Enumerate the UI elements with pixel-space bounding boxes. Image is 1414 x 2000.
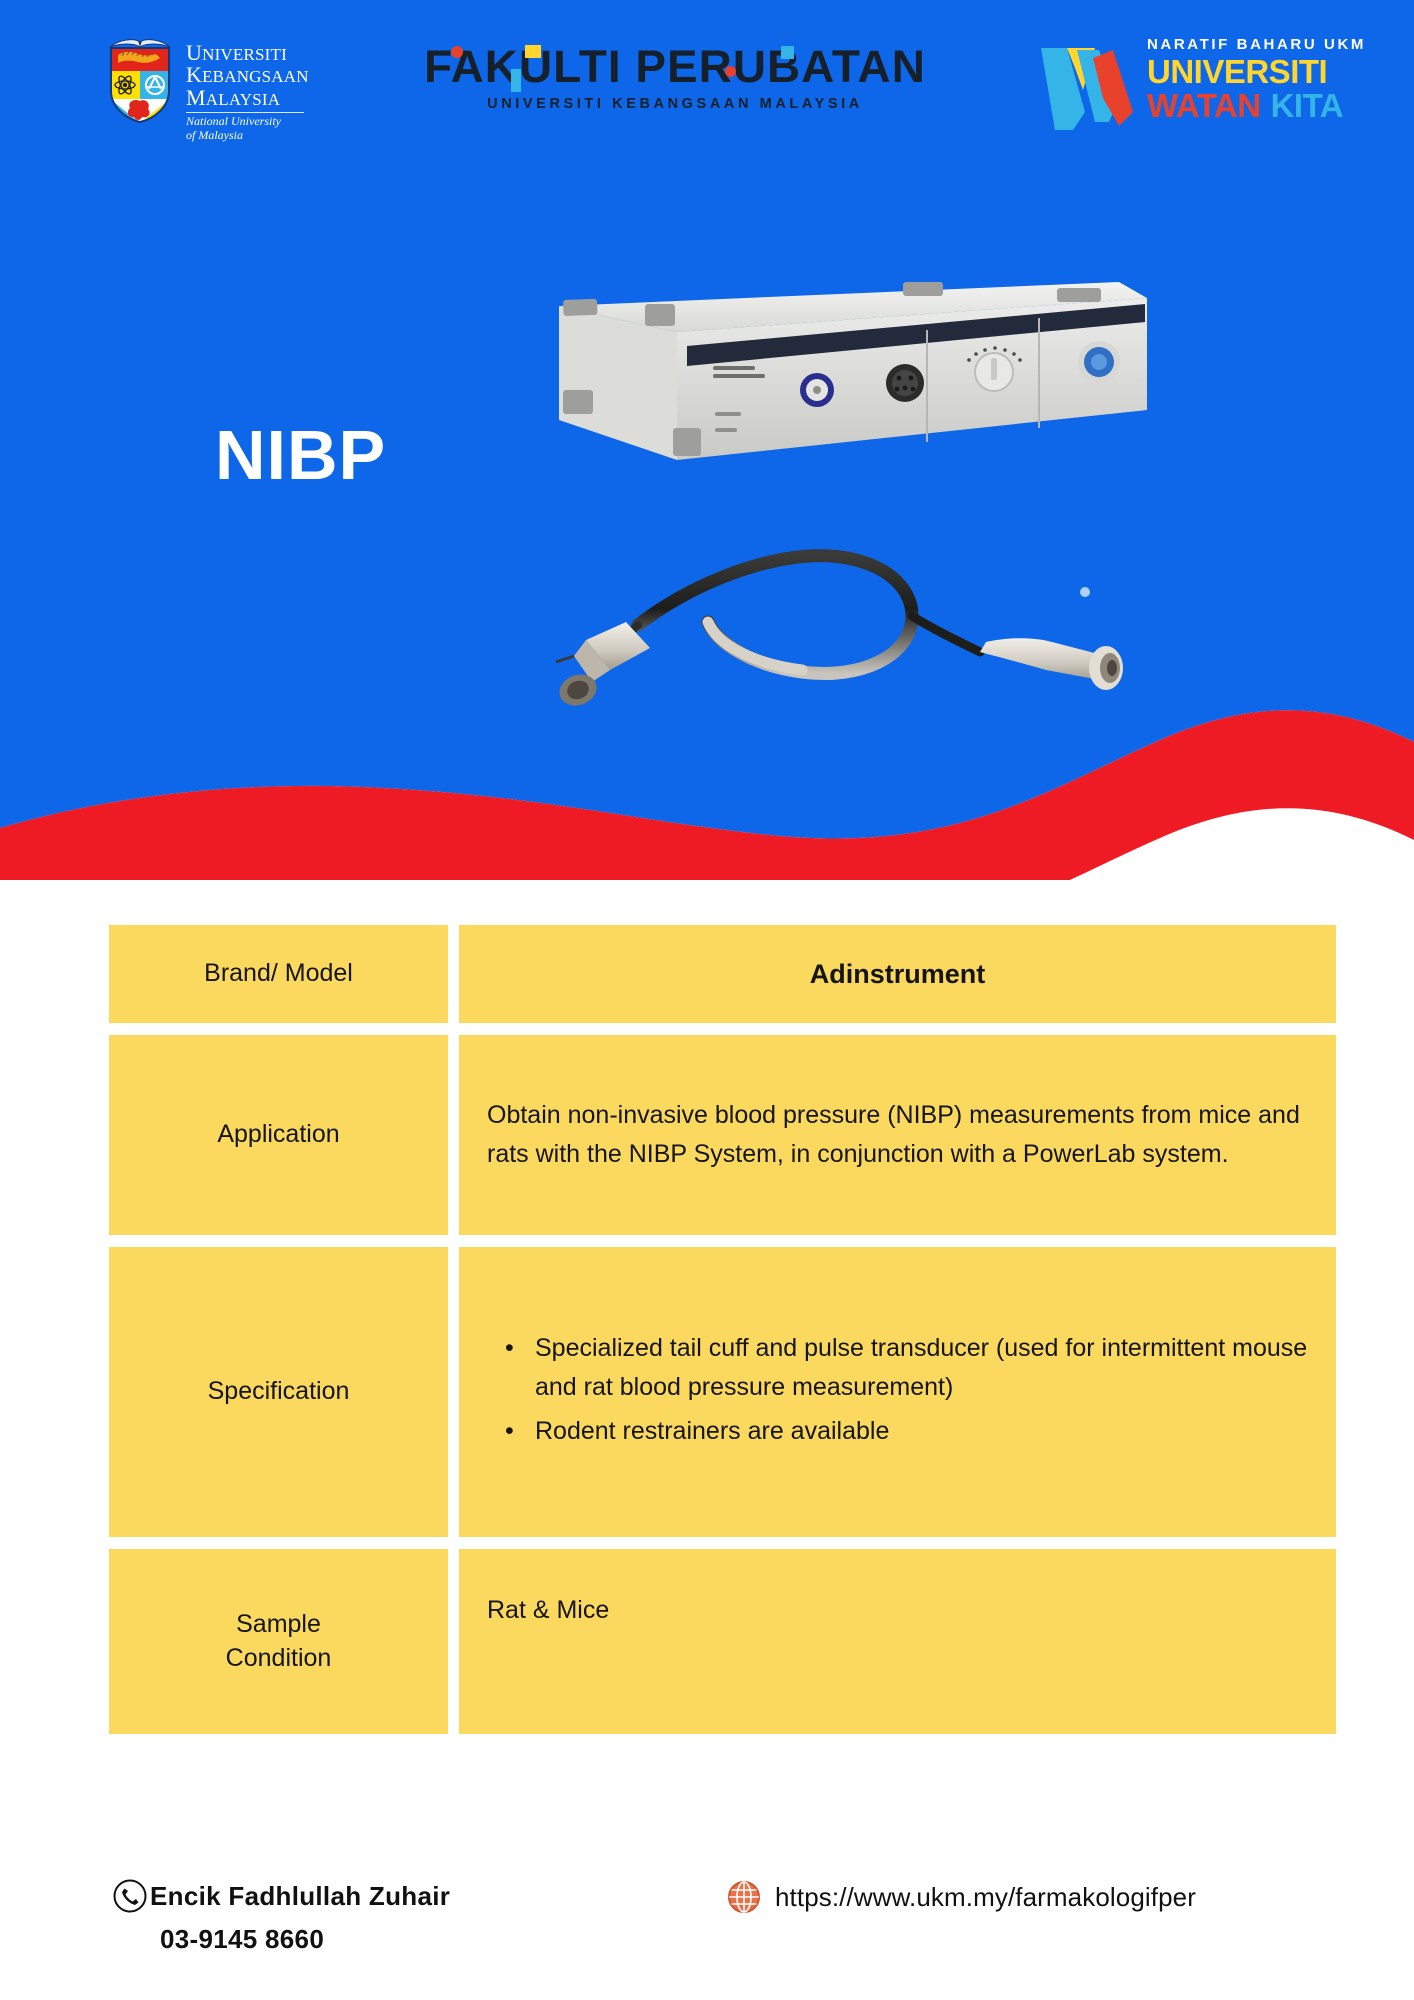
ukm-line-2: KEBANGSAAN bbox=[186, 64, 309, 86]
faculty-subtitle: UNIVERSITI KEBANGSAAN MALAYSIA bbox=[425, 96, 925, 112]
table-row: Brand/ Model Adinstrument bbox=[109, 925, 1336, 1023]
row-label-sample-condition: SampleCondition bbox=[109, 1549, 448, 1734]
row-value-brand: Adinstrument bbox=[459, 925, 1336, 1023]
accent-square-yellow bbox=[525, 45, 541, 58]
ukm-sub-1: National University bbox=[186, 115, 309, 129]
footer: Encik Fadhlullah Zuhair 03-9145 8660 htt… bbox=[0, 1878, 1414, 1998]
page-title: NIBP bbox=[215, 420, 386, 490]
ukm-sub-2: of Malaysia bbox=[186, 129, 309, 143]
campaign-line-1: NARATIF BAHARU UKM bbox=[1147, 36, 1367, 53]
contact-name-row: Encik Fadhlullah Zuhair bbox=[112, 1878, 450, 1914]
row-label-brand: Brand/ Model bbox=[109, 925, 448, 1023]
row-label-sample-condition-text: SampleCondition bbox=[226, 1608, 332, 1676]
table-row: Application Obtain non-invasive blood pr… bbox=[109, 1035, 1336, 1235]
ukm-crest-icon bbox=[104, 32, 176, 128]
row-value-specification: Specialized tail cuff and pulse transduc… bbox=[459, 1247, 1336, 1537]
table-row: SampleCondition Rat & Mice bbox=[109, 1549, 1336, 1734]
ukm-line-3: MALAYSIA bbox=[186, 87, 309, 109]
row-value-application: Obtain non-invasive blood pressure (NIBP… bbox=[459, 1035, 1336, 1235]
header-logos: UNIVERSITI KEBANGSAAN MALAYSIA National … bbox=[0, 0, 1414, 150]
campaign-wordmark: NARATIF BAHARU UKM UNIVERSITI WATANKITA bbox=[1147, 36, 1367, 122]
table-row: Specification Specialized tail cuff and … bbox=[109, 1247, 1336, 1537]
ukm-shield-icon bbox=[110, 47, 170, 123]
row-label-specification: Specification bbox=[109, 1247, 448, 1537]
campaign-watan: WATAN bbox=[1147, 87, 1261, 124]
contact-name: Encik Fadhlullah Zuhair bbox=[150, 1881, 450, 1912]
faculty-logo: FAKULTI PERUBATAN UNIVERSITI KEBANGSAAN … bbox=[425, 44, 925, 140]
campaign-line-3: WATANKITA bbox=[1147, 89, 1367, 123]
website-block[interactable]: https://www.ukm.my/farmakologifper bbox=[727, 1880, 1196, 1914]
poster-page: UNIVERSITI KEBANGSAAN MALAYSIA National … bbox=[0, 0, 1414, 2000]
globe-icon bbox=[727, 1880, 761, 1914]
contact-block: Encik Fadhlullah Zuhair 03-9145 8660 bbox=[112, 1878, 450, 1955]
accent-bar-cyan bbox=[511, 69, 521, 92]
row-label-application: Application bbox=[109, 1035, 448, 1235]
specification-bullet-list: Specialized tail cuff and pulse transduc… bbox=[487, 1329, 1308, 1456]
accent-square-cyan bbox=[781, 46, 794, 59]
pulse-transducer-cable-image bbox=[540, 530, 1155, 720]
faculty-wordmark: FAKULTI PERUBATAN bbox=[420, 44, 930, 89]
campaign-kita: KITA bbox=[1271, 87, 1344, 124]
row-value-sample-condition: Rat & Mice bbox=[459, 1549, 1336, 1734]
list-item: Rodent restrainers are available bbox=[521, 1412, 1308, 1452]
accent-dot-red-1 bbox=[451, 46, 463, 58]
vw-checkmark-icon bbox=[1037, 38, 1157, 130]
ukm-wordmark: UNIVERSITI KEBANGSAAN MALAYSIA National … bbox=[186, 32, 309, 143]
ukm-line-1: UNIVERSITI bbox=[186, 42, 309, 64]
list-item: Specialized tail cuff and pulse transduc… bbox=[521, 1329, 1308, 1408]
accent-dot-red-2 bbox=[725, 66, 736, 77]
ukm-logo: UNIVERSITI KEBANGSAAN MALAYSIA National … bbox=[104, 32, 344, 132]
phone-icon bbox=[112, 1878, 148, 1914]
ukm-divider bbox=[186, 112, 304, 113]
contact-phone: 03-9145 8660 bbox=[160, 1924, 450, 1955]
campaign-logo: NARATIF BAHARU UKM UNIVERSITI WATANKITA bbox=[1037, 30, 1367, 135]
campaign-line-2: UNIVERSITI bbox=[1147, 55, 1367, 89]
nibp-amplifier-image bbox=[527, 270, 1167, 470]
specification-table: Brand/ Model Adinstrument Application Ob… bbox=[109, 925, 1336, 1746]
website-url[interactable]: https://www.ukm.my/farmakologifper bbox=[775, 1882, 1196, 1913]
